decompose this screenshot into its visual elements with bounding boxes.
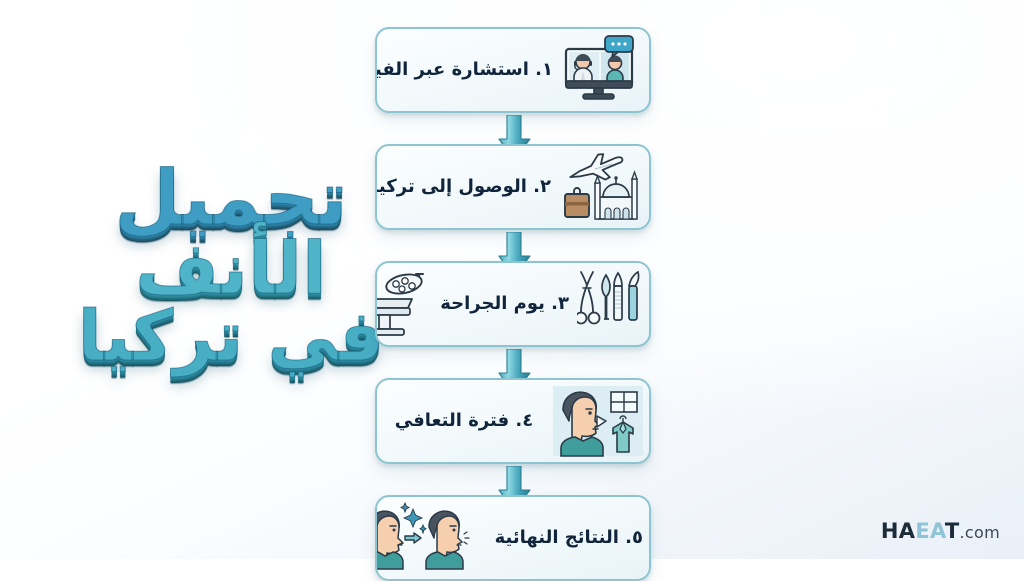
flow-step-3[interactable]: ٣. يوم الجراحة [375,261,651,347]
flow-step-1-label: ١. استشارة عبر الفيديو [375,59,559,81]
travel-to-turkey-icon [559,151,643,223]
flow-step-4-label: ٤. فترة التعافي [377,410,551,432]
flow-step-3-label: ٣. يوم الجراحة [434,293,575,315]
page-title: تجميل الأنف في تركيا [96,140,366,395]
infographic-canvas: تجميل الأنف في تركيا [0,0,1024,559]
watermark-prefix: HA [881,519,915,543]
video-consultation-icon [561,35,643,105]
operating-table-icon [375,268,432,340]
flow-step-5-label: ٥. النتائج النهائية [489,527,649,549]
watermark-domain: .com [960,523,1000,542]
title-line-1: تجميل [114,161,347,235]
title-line-2: الأنف [135,233,327,304]
flow-step-1[interactable]: ١. استشارة عبر الفيديو [375,27,651,113]
process-flowchart: ١. استشارة عبر الفيديو [375,27,653,542]
watermark-suffix: T [945,519,960,543]
recovery-period-icon [553,384,643,458]
watermark: HAEAT.com [881,519,1000,543]
watermark-highlight: EA [915,519,945,543]
flow-step-4[interactable]: ٤. فترة التعافي [375,378,651,464]
flow-step-5[interactable]: ٥. النتائج النهائية [375,495,651,581]
flow-step-2[interactable]: ٢. الوصول إلى تركيا [375,144,651,230]
surgical-instruments-icon [577,268,643,340]
title-line-3: في تركيا [78,302,384,371]
final-results-icon [375,501,487,575]
flow-step-2-label: ٢. الوصول إلى تركيا [375,176,557,198]
